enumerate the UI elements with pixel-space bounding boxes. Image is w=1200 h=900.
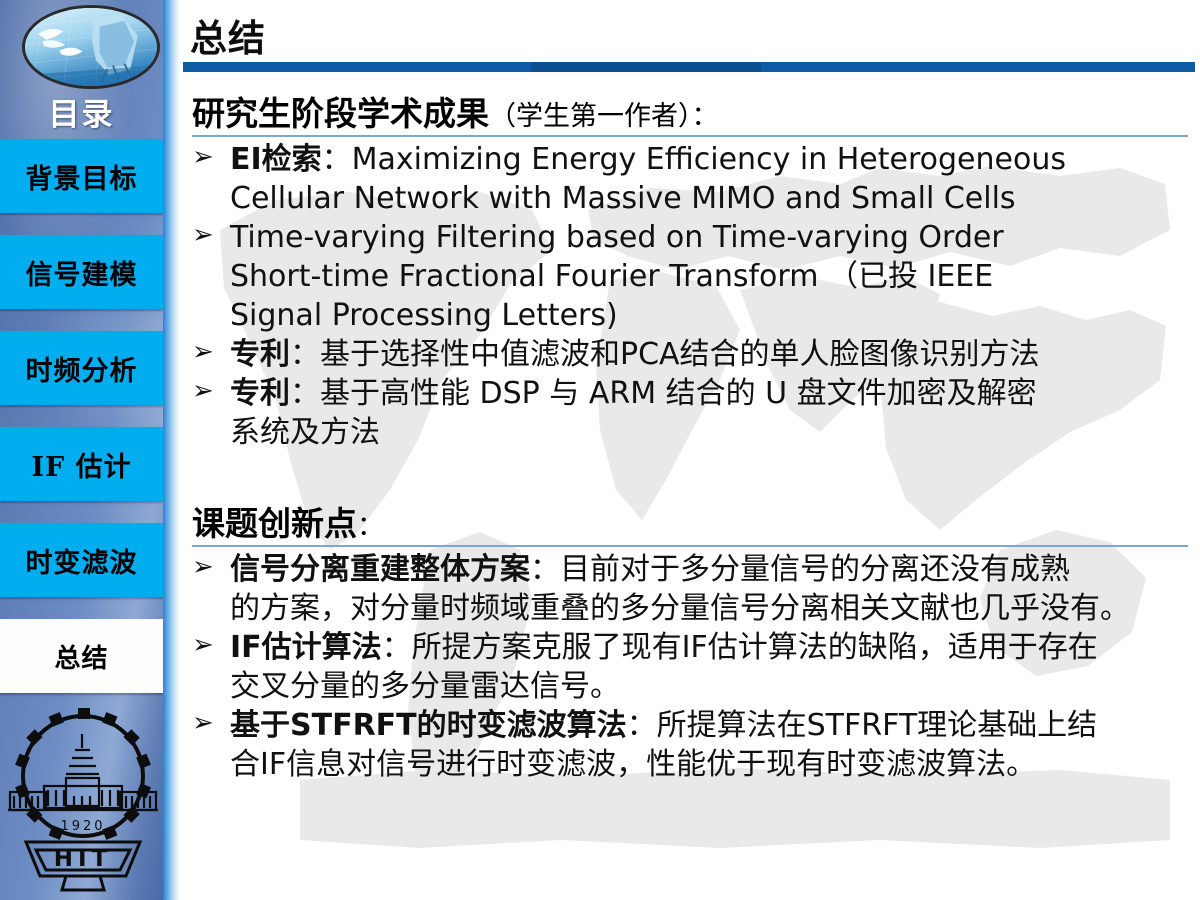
sidebar: 目录 背景目标信号建模时频分析IF 估计时变滤波总结 bbox=[0, 0, 180, 900]
bullet-line-text: Short-time Fractional Fourier Transform … bbox=[230, 259, 993, 294]
section-heading-sub: （学生第一作者）： bbox=[489, 101, 719, 132]
bullet-arrow-icon: ➢ bbox=[192, 706, 230, 742]
bullet-line: 交叉分量的多分量雷达信号。 bbox=[230, 667, 1188, 706]
bullet-line: Short-time Fractional Fourier Transform … bbox=[230, 257, 1188, 296]
bullet-text: EI检索：Maximizing Energy Efficiency in Het… bbox=[230, 140, 1188, 218]
bullet-item: ➢专利：基于高性能 DSP 与 ARM 结合的 U 盘文件加密及解密系统及方法 bbox=[192, 374, 1188, 452]
bullet-lead-term: 专利 bbox=[230, 337, 290, 372]
bullet-line: 专利：基于高性能 DSP 与 ARM 结合的 U 盘文件加密及解密 bbox=[230, 374, 1188, 413]
bullet-text: 专利：基于高性能 DSP 与 ARM 结合的 U 盘文件加密及解密系统及方法 bbox=[230, 374, 1188, 452]
bullet-line-text: 系统及方法 bbox=[230, 415, 380, 450]
hit-logo-abbr: HIT bbox=[54, 846, 113, 872]
bullet-lead-term: EI检索 bbox=[230, 142, 322, 177]
bullet-line: 系统及方法 bbox=[230, 413, 1188, 452]
bullet-line: Signal Processing Letters) bbox=[230, 296, 1188, 335]
sidebar-edge-bevel bbox=[163, 0, 180, 900]
bullet-text: 基于STFRFT的时变滤波算法：所提算法在STFRFT理论基础上结合IF信息对信… bbox=[230, 706, 1188, 784]
bullet-line-text: Cellular Network with Massive MIMO and S… bbox=[230, 181, 1016, 216]
section-achievements: 研究生阶段学术成果（学生第一作者）： ➢EI检索：Maximizing Ener… bbox=[192, 96, 1188, 452]
bullet-line: Time-varying Filtering based on Time-var… bbox=[230, 218, 1188, 257]
bullet-text: 专利：基于选择性中值滤波和PCA结合的单人脸图像识别方法 bbox=[230, 335, 1188, 374]
section-heading-main: 研究生阶段学术成果 bbox=[192, 94, 489, 133]
bullet-line-text: ：目前对于多分量信号的分离还没有成熟 bbox=[530, 552, 1070, 587]
sidebar-item-label: IF 估计 bbox=[31, 445, 131, 484]
bullet-line-text: 的方案，对分量时频域重叠的多分量信号分离相关文献也几乎没有。 bbox=[230, 591, 1130, 626]
bullet-line-text: ：基于选择性中值滤波和PCA结合的单人脸图像识别方法 bbox=[290, 337, 1040, 372]
sidebar-item-3[interactable]: IF 估计 bbox=[0, 427, 163, 501]
section-rule bbox=[192, 135, 1188, 137]
sidebar-nav: 背景目标信号建模时频分析IF 估计时变滤波总结 bbox=[0, 139, 163, 715]
sidebar-item-5[interactable]: 总结 bbox=[0, 619, 163, 693]
section-rule bbox=[192, 545, 1188, 547]
sidebar-item-label: 时频分析 bbox=[26, 349, 138, 388]
bullet-item: ➢Time-varying Filtering based on Time-va… bbox=[192, 218, 1188, 335]
bullet-line-text: ：所提方案克服了现有IF估计算法的缺陷，适用于存在 bbox=[382, 630, 1098, 665]
bullet-lead-term: 专利 bbox=[230, 376, 290, 411]
sidebar-item-label: 背景目标 bbox=[26, 157, 138, 196]
bullet-line: 专利：基于选择性中值滤波和PCA结合的单人脸图像识别方法 bbox=[230, 335, 1188, 374]
sidebar-item-4[interactable]: 时变滤波 bbox=[0, 523, 163, 597]
bullet-item: ➢IF估计算法：所提方案克服了现有IF估计算法的缺陷，适用于存在交叉分量的多分量… bbox=[192, 628, 1188, 706]
bullet-line-text: Time-varying Filtering based on Time-var… bbox=[230, 220, 1004, 255]
bullet-arrow-icon: ➢ bbox=[192, 335, 230, 371]
bullet-item: ➢基于STFRFT的时变滤波算法：所提算法在STFRFT理论基础上结合IF信息对… bbox=[192, 706, 1188, 784]
bullet-line-text: ：所提算法在STFRFT理论基础上结 bbox=[627, 708, 1098, 743]
bullet-arrow-icon: ➢ bbox=[192, 628, 230, 664]
bullet-arrow-icon: ➢ bbox=[192, 550, 230, 586]
bullet-list: ➢EI检索：Maximizing Energy Efficiency in He… bbox=[192, 140, 1188, 452]
sidebar-item-label: 总结 bbox=[54, 638, 108, 675]
bullet-line: Cellular Network with Massive MIMO and S… bbox=[230, 179, 1188, 218]
bullet-line-text: 合IF信息对信号进行时变滤波，性能优于现有时变滤波算法。 bbox=[230, 747, 1036, 782]
bullet-lead-term: 信号分离重建整体方案 bbox=[230, 552, 530, 587]
hit-logo-year: 1920 bbox=[60, 819, 105, 834]
bullet-line-text: 交叉分量的多分量雷达信号。 bbox=[230, 669, 620, 704]
bullet-line: 信号分离重建整体方案：目前对于多分量信号的分离还没有成熟 bbox=[230, 550, 1188, 589]
bullet-item: ➢EI检索：Maximizing Energy Efficiency in He… bbox=[192, 140, 1188, 218]
toc-title: 目录 bbox=[0, 88, 163, 134]
bullet-line: EI检索：Maximizing Energy Efficiency in Het… bbox=[230, 140, 1188, 179]
section-heading-main: 课题创新点 bbox=[192, 504, 357, 543]
presentation-slide: 目录 背景目标信号建模时频分析IF 估计时变滤波总结 bbox=[0, 0, 1200, 900]
bullet-list: ➢信号分离重建整体方案：目前对于多分量信号的分离还没有成熟的方案，对分量时频域重… bbox=[192, 550, 1188, 784]
bullet-item: ➢专利：基于选择性中值滤波和PCA结合的单人脸图像识别方法 bbox=[192, 335, 1188, 374]
slide-content: 总结 研究生阶段学术成果（学生第一作者）： ➢EI检索：Maximizing E… bbox=[180, 0, 1200, 900]
bullet-line-text: ：Maximizing Energy Efficiency in Heterog… bbox=[322, 142, 1066, 177]
bullet-line: 合IF信息对信号进行时变滤波，性能优于现有时变滤波算法。 bbox=[230, 745, 1188, 784]
bullet-arrow-icon: ➢ bbox=[192, 374, 230, 410]
bullet-lead-term: IF估计算法 bbox=[230, 630, 382, 665]
bullet-line: 基于STFRFT的时变滤波算法：所提算法在STFRFT理论基础上结 bbox=[230, 706, 1188, 745]
bullet-lead-term: 基于STFRFT的时变滤波算法 bbox=[230, 708, 627, 743]
section-heading: 研究生阶段学术成果（学生第一作者）： bbox=[192, 96, 1188, 133]
bullet-text: IF估计算法：所提方案克服了现有IF估计算法的缺陷，适用于存在交叉分量的多分量雷… bbox=[230, 628, 1188, 706]
title-underline bbox=[183, 62, 1195, 72]
bullet-line-text: Signal Processing Letters) bbox=[230, 298, 618, 333]
satellite-dish-oval-image bbox=[22, 5, 160, 89]
bullet-line: IF估计算法：所提方案克服了现有IF估计算法的缺陷，适用于存在 bbox=[230, 628, 1188, 667]
sidebar-item-label: 时变滤波 bbox=[26, 541, 138, 580]
section-innovation: 课题创新点： ➢信号分离重建整体方案：目前对于多分量信号的分离还没有成熟的方案，… bbox=[192, 506, 1188, 784]
bullet-text: Time-varying Filtering based on Time-var… bbox=[230, 218, 1188, 335]
sidebar-item-2[interactable]: 时频分析 bbox=[0, 331, 163, 405]
sidebar-item-0[interactable]: 背景目标 bbox=[0, 139, 163, 213]
section-heading-sub: ： bbox=[357, 511, 384, 542]
page-title: 总结 bbox=[190, 8, 266, 62]
bullet-item: ➢信号分离重建整体方案：目前对于多分量信号的分离还没有成熟的方案，对分量时频域重… bbox=[192, 550, 1188, 628]
bullet-line: 的方案，对分量时频域重叠的多分量信号分离相关文献也几乎没有。 bbox=[230, 589, 1188, 628]
bullet-arrow-icon: ➢ bbox=[192, 218, 230, 254]
hit-university-logo: 1920 HIT bbox=[8, 700, 158, 896]
bullet-text: 信号分离重建整体方案：目前对于多分量信号的分离还没有成熟的方案，对分量时频域重叠… bbox=[230, 550, 1188, 628]
sidebar-item-label: 信号建模 bbox=[26, 253, 138, 292]
sidebar-item-1[interactable]: 信号建模 bbox=[0, 235, 163, 309]
bullet-line-text: ：基于高性能 DSP 与 ARM 结合的 U 盘文件加密及解密 bbox=[290, 376, 1037, 411]
section-heading: 课题创新点： bbox=[192, 506, 1188, 543]
bullet-arrow-icon: ➢ bbox=[192, 140, 230, 176]
